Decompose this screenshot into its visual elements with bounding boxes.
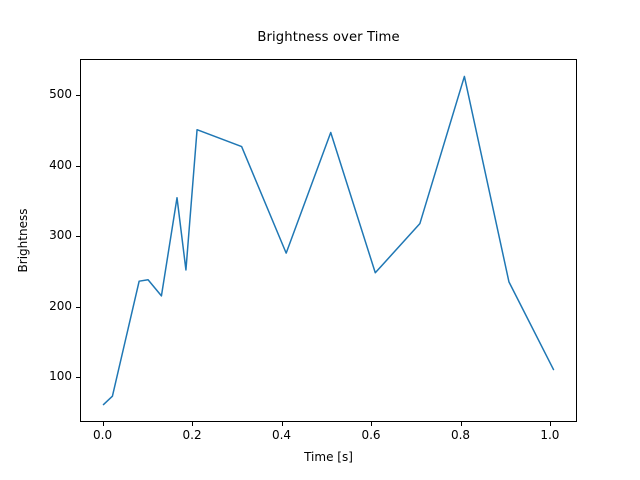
x-tick-mark	[461, 422, 462, 426]
x-tick-label: 0.8	[431, 428, 491, 442]
x-tick-label: 0.0	[73, 428, 133, 442]
matplotlib-figure: Brightness over Time 100200300400500 0.0…	[0, 0, 640, 480]
x-tick-mark	[371, 422, 372, 426]
x-tick-mark	[550, 422, 551, 426]
x-tick-mark	[192, 422, 193, 426]
line-chart-plot-area	[81, 60, 576, 421]
y-axis-label: Brightness	[16, 59, 32, 422]
x-tick-mark	[282, 422, 283, 426]
y-tick-label: 200	[0, 299, 79, 313]
y-tick-label: 500	[0, 87, 79, 101]
y-tick-label: 300	[0, 228, 79, 242]
y-tick-label: 100	[0, 369, 79, 383]
x-axis-label: Time [s]	[80, 450, 577, 464]
y-tick-label: 400	[0, 158, 79, 172]
brightness-line-series	[103, 76, 553, 404]
x-tick-label: 0.6	[341, 428, 401, 442]
x-tick-label: 0.2	[162, 428, 222, 442]
chart-title: Brightness over Time	[80, 30, 577, 45]
x-tick-label: 0.4	[252, 428, 312, 442]
plot-axes-frame	[80, 59, 577, 422]
x-tick-mark	[103, 422, 104, 426]
x-tick-label: 1.0	[520, 428, 580, 442]
